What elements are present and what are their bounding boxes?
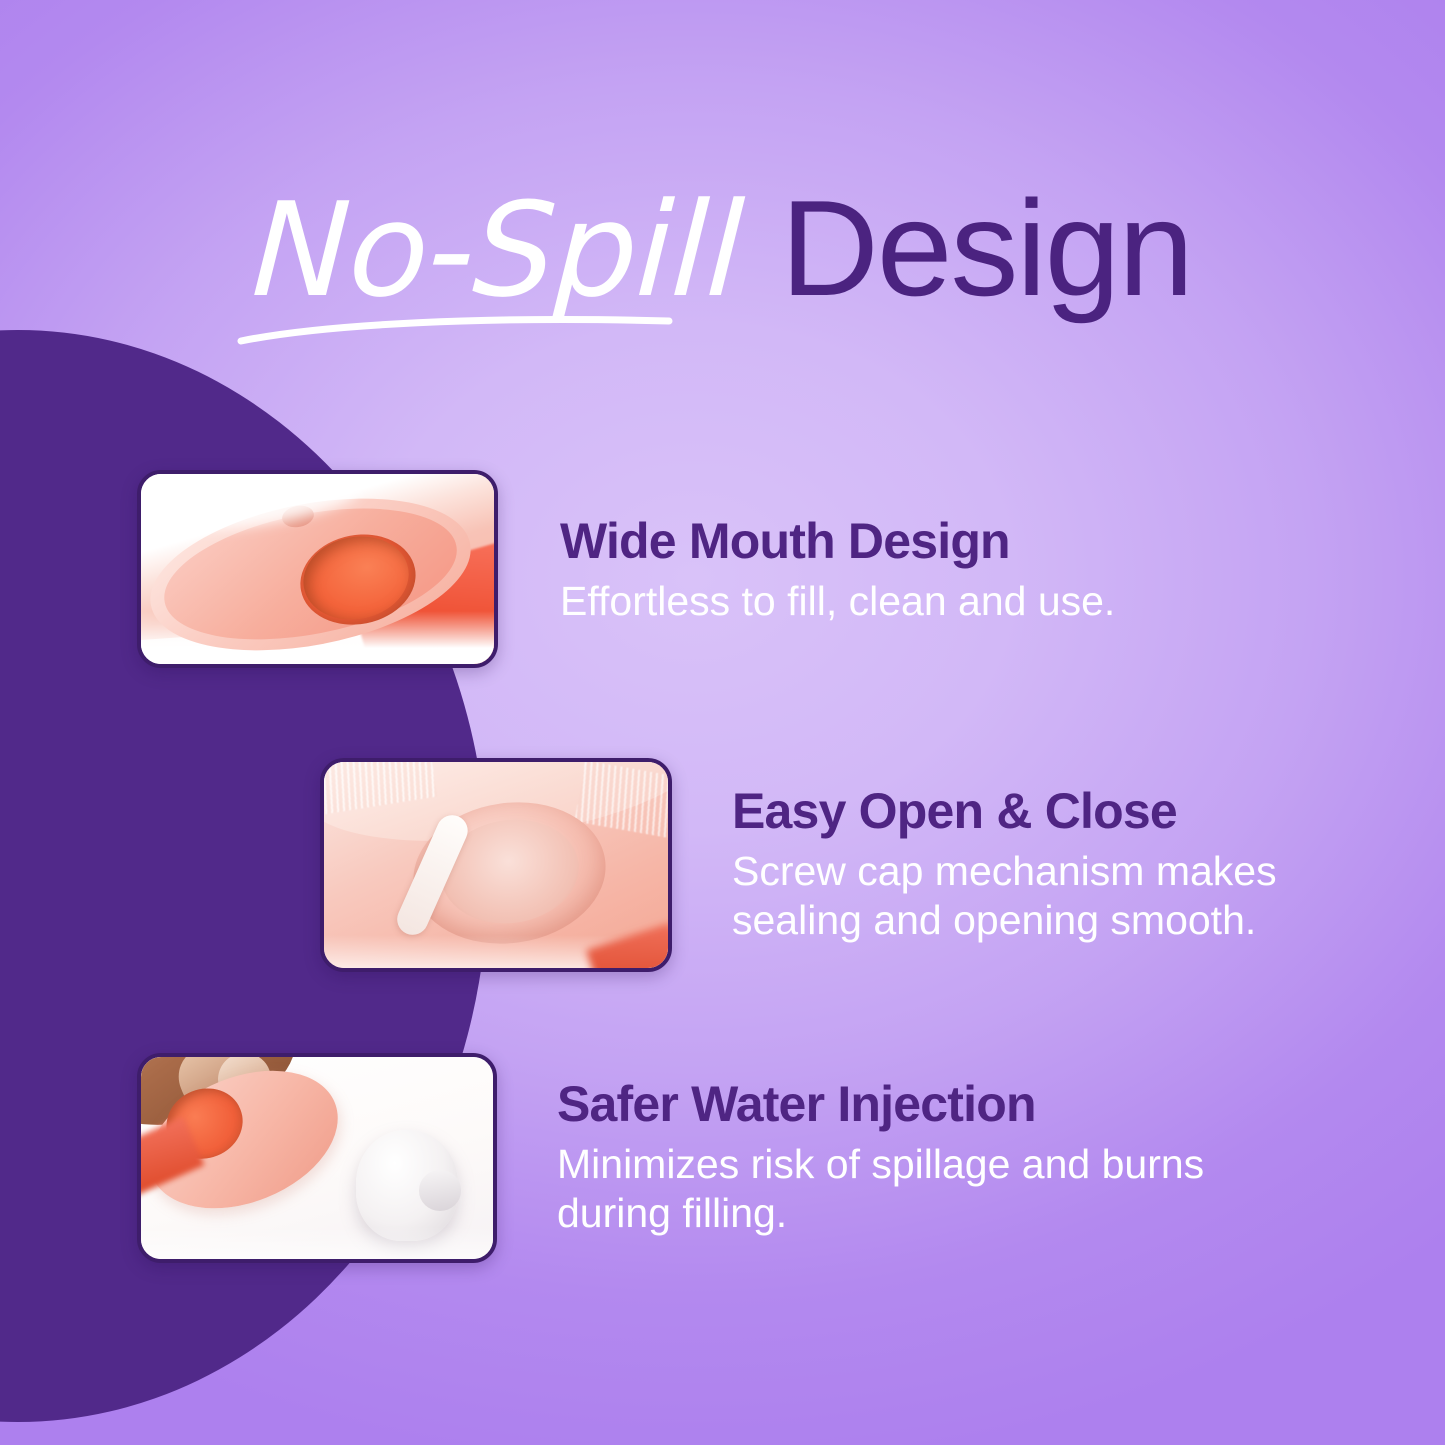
feature-row-wide-mouth: Wide Mouth Design Effortless to fill, cl…: [137, 470, 1115, 668]
feature-text-1: Wide Mouth Design Effortless to fill, cl…: [560, 515, 1115, 626]
feature-title-2: Easy Open & Close: [732, 785, 1332, 838]
product-photo-hand-and-cap: [141, 1057, 493, 1259]
feature-title-3: Safer Water Injection: [557, 1078, 1257, 1131]
feature-description-1: Effortless to fill, clean and use.: [560, 577, 1115, 626]
title-plain-word: Design: [781, 168, 1192, 328]
infographic-canvas: No-Spill Design Wide Mouth Desi: [0, 0, 1445, 1445]
feature-image-card-2: [320, 758, 672, 972]
feature-row-safer-water-injection: Safer Water Injection Minimizes risk of …: [137, 1053, 1257, 1263]
page-title: No-Spill Design: [0, 168, 1445, 328]
feature-text-3: Safer Water Injection Minimizes risk of …: [557, 1078, 1257, 1238]
product-photo-wide-mouth: [141, 474, 494, 664]
feature-title-1: Wide Mouth Design: [560, 515, 1115, 568]
feature-row-easy-open-close: Easy Open & Close Screw cap mechanism ma…: [320, 758, 1332, 972]
feature-text-2: Easy Open & Close Screw cap mechanism ma…: [732, 785, 1332, 945]
feature-description-2: Screw cap mechanism makes sealing and op…: [732, 847, 1332, 945]
product-photo-screw-cap: [324, 762, 668, 968]
feature-description-3: Minimizes risk of spillage and burns dur…: [557, 1140, 1257, 1238]
title-script-word: No-Spill: [249, 174, 746, 327]
feature-image-card-1: [137, 470, 498, 668]
feature-image-card-3: [137, 1053, 497, 1263]
